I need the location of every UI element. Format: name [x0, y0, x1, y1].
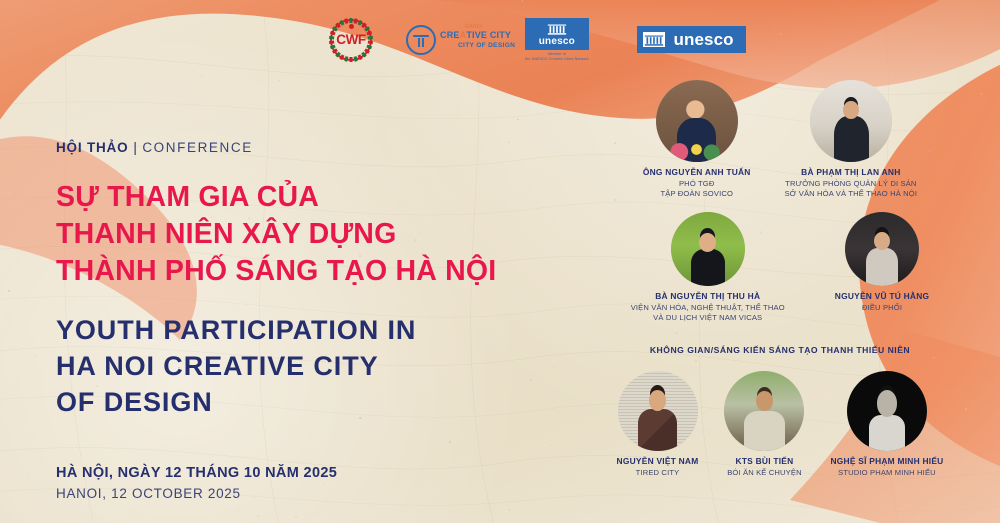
- paper-speck: [237, 509, 239, 511]
- speaker-card: BÀ NGUYỄN THỊ THU HÀ VIỆN VĂN HÓA, NGHỆ …: [631, 212, 785, 322]
- speaker-role: TIRED CITY: [617, 468, 699, 478]
- title-en-line-3: OF DESIGN: [56, 384, 576, 420]
- conference-poster: CWF HANOI CREATIVE CITY CITY OF DESIGN: [0, 0, 1000, 523]
- paper-speck: [27, 300, 28, 301]
- paper-speck: [13, 347, 14, 348]
- speaker-row-2: BÀ NGUYỄN THỊ THU HÀ VIỆN VĂN HÓA, NGHỆ …: [560, 212, 1000, 322]
- page-title-vietnamese: SỰ THAM GIA CỦA THANH NIÊN XÂY DỰNG THÀN…: [56, 179, 576, 290]
- paper-speck: [58, 30, 59, 31]
- avatar: [618, 371, 698, 451]
- paper-speck: [422, 93, 424, 95]
- paper-speck: [7, 315, 9, 317]
- paper-speck: [207, 23, 208, 24]
- paper-speck: [506, 518, 507, 519]
- paper-speck: [167, 18, 168, 19]
- cwf-tick-mark: [368, 36, 373, 40]
- paper-speck: [509, 509, 511, 511]
- speaker-role: ĐIỀU PHỐI: [835, 303, 930, 313]
- avatar: [845, 212, 919, 286]
- creative-city-line1b: TIVE CITY: [466, 30, 511, 40]
- speaker-name: BÀ NGUYỄN THỊ THU HÀ: [631, 292, 785, 302]
- creative-city-line2: CITY OF DESIGN: [458, 43, 515, 50]
- cwf-logo: CWF: [330, 19, 372, 61]
- eyebrow-vietnamese: HỘI THẢO: [56, 140, 128, 155]
- title-en-line-2: HA NOI CREATIVE CITY: [56, 348, 576, 384]
- paper-speck: [5, 170, 6, 171]
- speaker-card: ÔNG NGUYỄN ANH TUẤN PHÓ TGĐTẬP ĐOÀN SOVI…: [643, 80, 751, 198]
- avatar: [656, 80, 738, 162]
- paper-speck: [589, 512, 590, 513]
- paper-speck: [9, 192, 11, 194]
- title-vi-line-1: SỰ THAM GIA CỦA: [56, 179, 576, 216]
- date-vietnamese: HÀ NỘI, NGÀY 12 THÁNG 10 NĂM 2025: [56, 465, 576, 481]
- paper-speck: [774, 29, 775, 30]
- unesco-small-logo: unesco Member ofthe UNESCO Creative Citi…: [525, 18, 588, 62]
- paper-speck: [27, 478, 28, 479]
- avatar: [724, 371, 804, 451]
- speaker-role: STUDIO PHẠM MINH HIẾU: [830, 468, 943, 478]
- speaker-card: NGUYỄN VŨ TÚ HẰNG ĐIỀU PHỐI: [835, 212, 930, 322]
- unesco-wordmark: unesco: [674, 31, 734, 48]
- cwf-tick-mark: [329, 40, 334, 44]
- paper-speck: [279, 80, 280, 81]
- unesco-small-wordmark: unesco: [539, 37, 575, 47]
- speaker-name: KTS BÙI TIẾN: [724, 457, 804, 467]
- date-block: HÀ NỘI, NGÀY 12 THÁNG 10 NĂM 2025 HANOI,…: [56, 465, 576, 501]
- paper-speck: [8, 290, 10, 292]
- speakers-panel: ÔNG NGUYỄN ANH TUẤN PHÓ TGĐTẬP ĐOÀN SOVI…: [560, 80, 1000, 477]
- speaker-name: NGUYỄN VIỆT NAM: [617, 457, 699, 467]
- title-en-line-1: YOUTH PARTICIPATION IN: [56, 312, 576, 348]
- eyebrow-separator: |: [133, 140, 137, 155]
- avatar: [671, 212, 745, 286]
- speaker-card: BÀ PHẠM THỊ LAN ANH TRƯỞNG PHÒNG QUẢN LÝ…: [785, 80, 918, 198]
- creative-city-badge-icon: [406, 25, 436, 55]
- speaker-card: NGUYỄN VIỆT NAM TIRED CITY: [617, 371, 699, 478]
- speaker-role: TRƯỞNG PHÒNG QUẢN LÝ DI SẢNSỞ VĂN HÓA VÀ…: [785, 179, 918, 198]
- speaker-row-1: ÔNG NGUYỄN ANH TUẤN PHÓ TGĐTẬP ĐOÀN SOVI…: [560, 80, 1000, 198]
- eyebrow-english: CONFERENCE: [142, 140, 253, 155]
- cwf-tick-mark: [368, 40, 373, 44]
- paper-speck: [517, 119, 519, 121]
- page-title-english: YOUTH PARTICIPATION IN HA NOI CREATIVE C…: [56, 312, 576, 421]
- paper-speck: [839, 37, 840, 38]
- paper-speck: [779, 68, 780, 69]
- avatar: [847, 371, 927, 451]
- creative-city-line1a: CRE: [440, 30, 460, 40]
- cwf-tick-mark: [350, 57, 353, 62]
- paper-speck: [295, 516, 297, 518]
- unesco-logo: unesco: [637, 26, 746, 53]
- poster-left-column: HỘI THẢO|CONFERENCE SỰ THAM GIA CỦA THAN…: [56, 140, 576, 501]
- section-heading: KHÔNG GIAN/SÁNG KIẾN SÁNG TẠO THANH THIẾ…: [560, 345, 1000, 355]
- eyebrow: HỘI THẢO|CONFERENCE: [56, 140, 576, 155]
- hanoi-creative-city-of-design-logo: HANOI CREATIVE CITY CITY OF DESIGN: [406, 18, 589, 62]
- speaker-role: BÓI ĂN KỂ CHUYỆN: [724, 468, 804, 478]
- cwf-tick-mark: [350, 18, 353, 23]
- creative-city-hanoi-label: HANOI: [465, 25, 483, 30]
- paper-speck: [522, 0, 523, 1]
- unesco-small-subtitle: Member ofthe UNESCO Creative Cities Netw…: [525, 52, 588, 62]
- unesco-temple-icon: [547, 22, 567, 35]
- speaker-card: NGHỆ SĨ PHẠM MINH HIẾU STUDIO PHẠM MINH …: [830, 371, 943, 478]
- speaker-name: NGHỆ SĨ PHẠM MINH HIẾU: [830, 457, 943, 467]
- speaker-card: KTS BÙI TIẾN BÓI ĂN KỂ CHUYỆN: [724, 371, 804, 478]
- speaker-role: VIỆN VĂN HÓA, NGHỆ THUẬT, THỂ THAOVÀ DU …: [631, 303, 785, 322]
- cwf-tick-mark: [329, 36, 334, 40]
- speaker-name: ÔNG NGUYỄN ANH TUẤN: [643, 168, 751, 178]
- logo-bar: CWF HANOI CREATIVE CITY CITY OF DESIGN: [330, 18, 746, 62]
- date-english: HANOI, 12 OCTOBER 2025: [56, 486, 576, 501]
- paper-speck: [35, 356, 36, 357]
- speaker-name: BÀ PHẠM THỊ LAN ANH: [785, 168, 918, 178]
- paper-speck: [780, 33, 781, 34]
- title-vi-line-3: THÀNH PHỐ SÁNG TẠO HÀ NỘI: [56, 253, 576, 290]
- avatar: [810, 80, 892, 162]
- speaker-name: NGUYỄN VŨ TÚ HẰNG: [835, 292, 930, 302]
- paper-speck: [201, 76, 203, 78]
- paper-speck: [856, 484, 857, 485]
- title-vi-line-2: THANH NIÊN XÂY DỰNG: [56, 216, 576, 253]
- speaker-row-3: NGUYỄN VIỆT NAM TIRED CITY KTS BÙI TIẾN …: [560, 371, 1000, 478]
- paper-speck: [13, 52, 14, 53]
- unesco-temple-icon-large: [643, 32, 665, 47]
- paper-speck: [257, 516, 259, 518]
- speaker-role: PHÓ TGĐTẬP ĐOÀN SOVICO: [643, 179, 751, 198]
- paper-speck: [573, 511, 574, 512]
